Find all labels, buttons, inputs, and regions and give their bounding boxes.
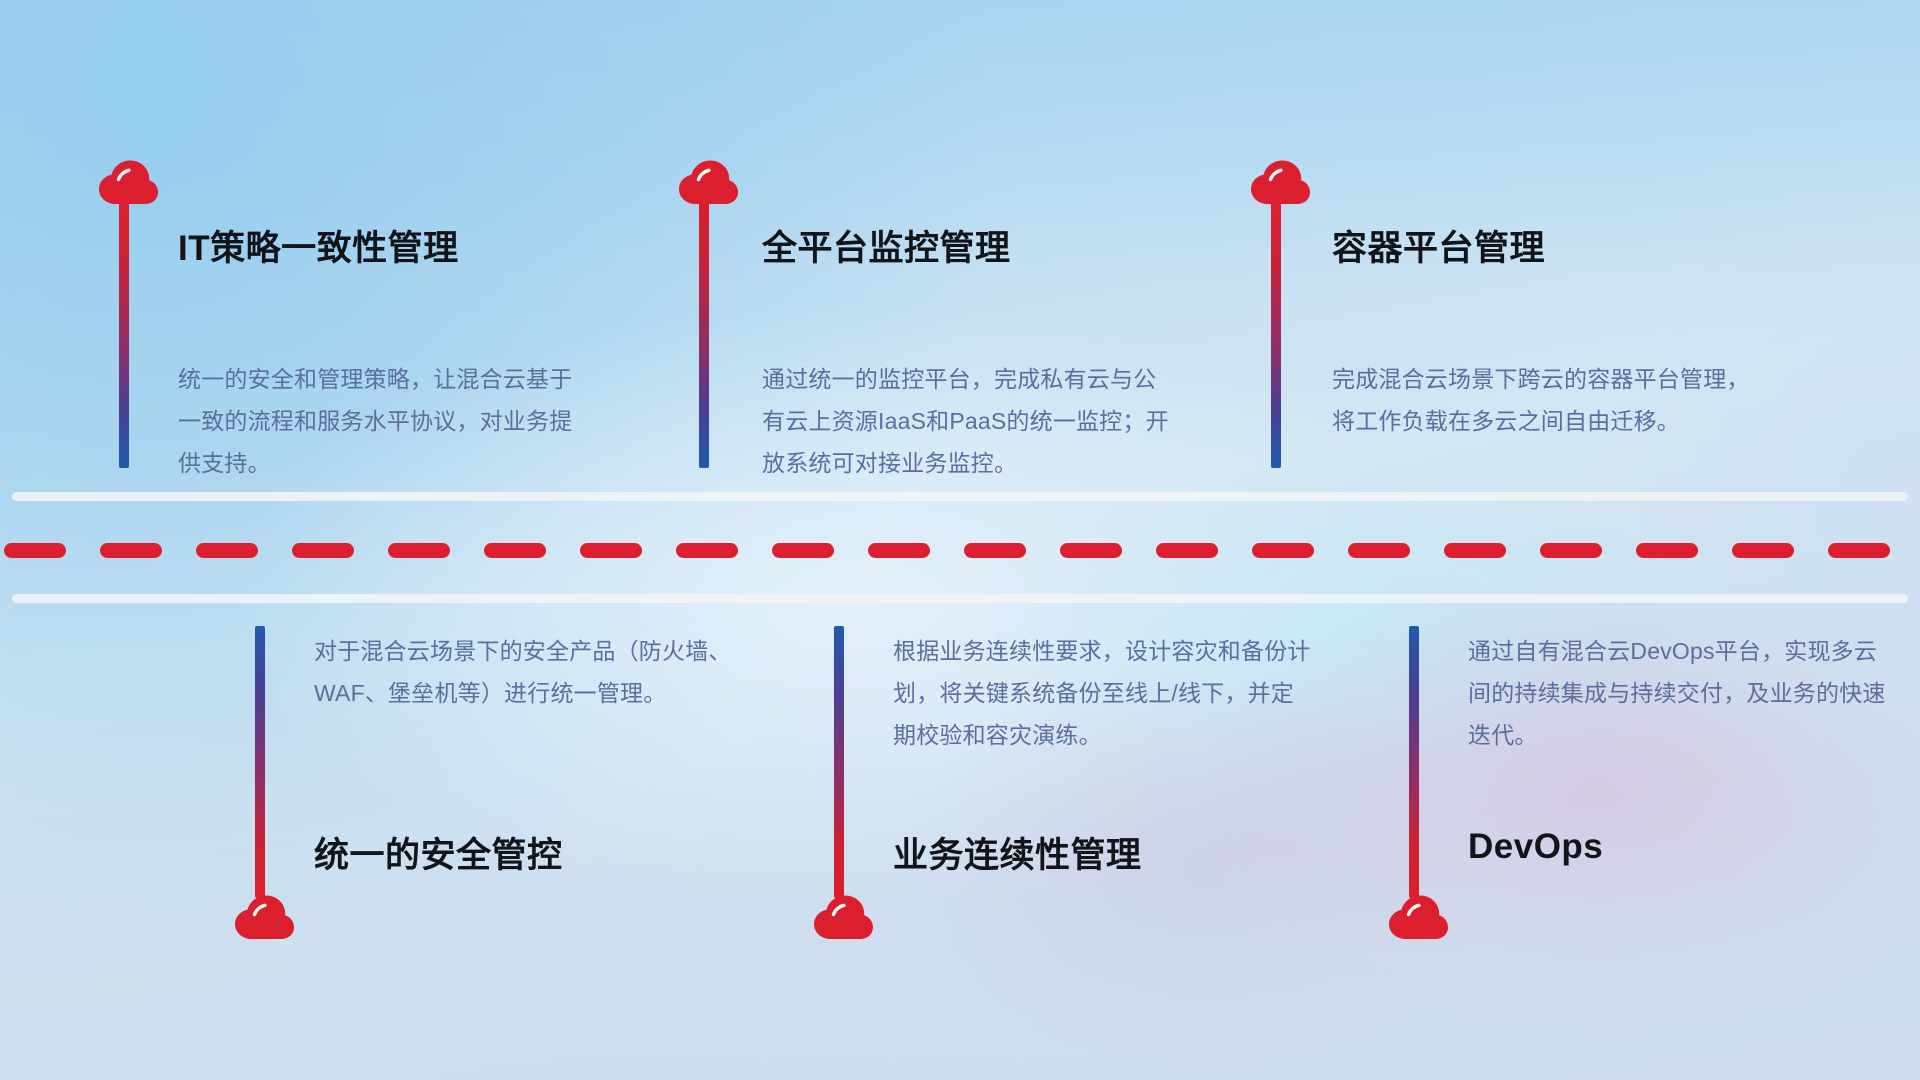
- dash-segment: [580, 543, 642, 558]
- dash-segment: [292, 543, 354, 558]
- column-title: 业务连续性管理: [893, 827, 1142, 878]
- solid-rule-lower: [12, 594, 1908, 603]
- connector-stem: [699, 200, 709, 468]
- column-title: 全平台监控管理: [762, 220, 1011, 271]
- dash-segment: [1252, 543, 1314, 558]
- dash-segment: [772, 543, 834, 558]
- column-title: 统一的安全管控: [314, 827, 563, 878]
- connector-stem: [255, 626, 265, 898]
- dash-segment: [484, 543, 546, 558]
- dash-segment: [1540, 543, 1602, 558]
- cloud-icon: [675, 158, 739, 206]
- dash-segment: [1156, 543, 1218, 558]
- dash-segment: [196, 543, 258, 558]
- dash-segment: [1444, 543, 1506, 558]
- column-body-text: 统一的安全和管理策略，让混合云基于一致的流程和服务水平协议，对业务提供支持。: [178, 358, 590, 484]
- dash-segment: [100, 543, 162, 558]
- column-title: IT策略一致性管理: [178, 220, 459, 271]
- dashed-separator: [0, 542, 1920, 558]
- dash-segment: [388, 543, 450, 558]
- dash-segment: [1828, 543, 1890, 558]
- column-body-text: 根据业务连续性要求，设计容灾和备份计划，将关键系统备份至线上/线下，并定期校验和…: [893, 630, 1313, 756]
- cloud-icon: [231, 893, 295, 941]
- infographic-canvas: IT策略一致性管理 统一的安全和管理策略，让混合云基于一致的流程和服务水平协议，…: [0, 0, 1920, 1080]
- dash-segment: [1636, 543, 1698, 558]
- dash-segment: [1060, 543, 1122, 558]
- solid-rule-upper: [12, 492, 1908, 501]
- dash-segment: [4, 543, 66, 558]
- column-body-text: 通过自有混合云DevOps平台，实现多云间的持续集成与持续交付，及业务的快速迭代…: [1468, 630, 1888, 756]
- cloud-icon: [1247, 158, 1311, 206]
- column-body-text: 完成混合云场景下跨云的容器平台管理，将工作负载在多云之间自由迁移。: [1332, 358, 1772, 442]
- cloud-icon: [1385, 893, 1449, 941]
- column-body-text: 通过统一的监控平台，完成私有云与公有云上资源IaaS和PaaS的统一监控；开放系…: [762, 358, 1174, 484]
- dash-segment: [676, 543, 738, 558]
- cloud-icon: [95, 158, 159, 206]
- dash-segment: [868, 543, 930, 558]
- dash-segment: [964, 543, 1026, 558]
- dash-segment: [1732, 543, 1794, 558]
- column-body-text: 对于混合云场景下的安全产品（防火墙、WAF、堡垒机等）进行统一管理。: [314, 630, 734, 714]
- column-title: DevOps: [1468, 827, 1603, 867]
- connector-stem: [1409, 626, 1419, 898]
- connector-stem: [119, 200, 129, 468]
- connector-stem: [834, 626, 844, 898]
- column-title: 容器平台管理: [1332, 220, 1545, 271]
- cloud-icon: [810, 893, 874, 941]
- dash-segment: [1348, 543, 1410, 558]
- connector-stem: [1271, 200, 1281, 468]
